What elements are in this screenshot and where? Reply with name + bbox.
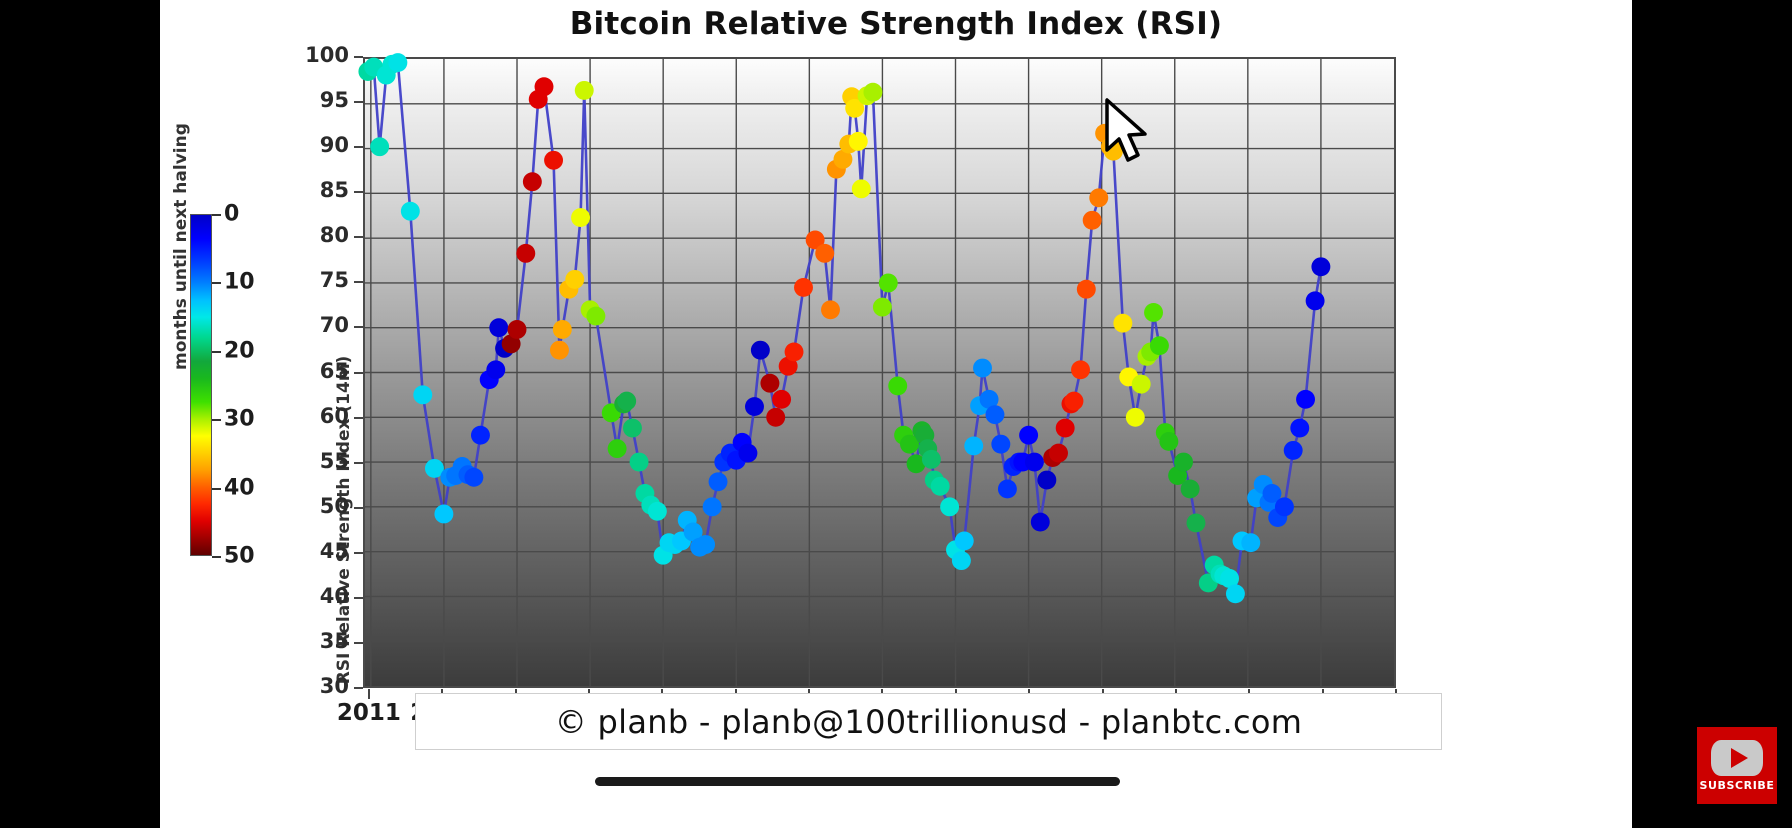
chart-figure: Bitcoin Relative Strength Index (RSI) mo… <box>160 0 1632 828</box>
y-tick-label: 55 <box>289 449 349 473</box>
y-tick-mark <box>354 462 363 464</box>
youtube-subscribe-button[interactable]: SUBSCRIBE <box>1697 727 1777 804</box>
watermark-credit: © planb - planb@100trillionusd - planbtc… <box>415 693 1442 750</box>
plot-area <box>363 57 1396 688</box>
y-tick-mark <box>354 552 363 554</box>
y-tick-label: 70 <box>289 313 349 337</box>
video-player-frame[interactable]: Bitcoin Relative Strength Index (RSI) mo… <box>160 0 1632 828</box>
colorbar-gradient <box>190 214 212 556</box>
y-tick-mark <box>354 281 363 283</box>
y-tick-label: 50 <box>289 494 349 518</box>
y-tick-label: 45 <box>289 539 349 563</box>
y-tick-label: 65 <box>289 359 349 383</box>
y-tick-label: 30 <box>289 674 349 698</box>
y-tick-mark <box>354 372 363 374</box>
y-tick-mark <box>354 597 363 599</box>
y-tick-label: 85 <box>289 178 349 202</box>
colorbar-tick-label: 30 <box>224 407 255 432</box>
colorbar-tick-mark <box>212 351 221 353</box>
screen: Bitcoin Relative Strength Index (RSI) mo… <box>0 0 1792 828</box>
youtube-play-icon <box>1711 740 1763 776</box>
y-tick-mark <box>354 56 363 58</box>
subscribe-label: SUBSCRIBE <box>1699 779 1774 792</box>
y-tick-mark <box>354 642 363 644</box>
y-tick-mark <box>354 236 363 238</box>
y-tick-label: 90 <box>289 133 349 157</box>
y-tick-label: 35 <box>289 629 349 653</box>
video-progress-bar[interactable] <box>595 777 1120 786</box>
chart-title: Bitcoin Relative Strength Index (RSI) <box>160 6 1632 42</box>
y-tick-mark <box>354 191 363 193</box>
colorbar-tick-label: 10 <box>224 270 255 295</box>
colorbar-tick-label: 50 <box>224 544 255 569</box>
colorbar-tick-mark <box>212 488 221 490</box>
colorbar-tick-label: 0 <box>224 202 239 227</box>
y-tick-mark <box>354 687 363 689</box>
y-tick-mark <box>354 101 363 103</box>
y-tick-mark <box>354 507 363 509</box>
colorbar-tick-label: 40 <box>224 475 255 500</box>
colorbar-tick-mark <box>212 419 221 421</box>
mouse-pointer-icon <box>1104 98 1150 168</box>
x-tick-mark <box>368 689 370 699</box>
y-tick-label: 75 <box>289 268 349 292</box>
y-tick-mark <box>354 146 363 148</box>
y-tick-mark <box>354 417 363 419</box>
scatter-series <box>365 59 1394 686</box>
colorbar-tick-mark <box>212 556 221 558</box>
colorbar-label-text: months until next halving <box>171 123 191 370</box>
y-tick-label: 40 <box>289 584 349 608</box>
y-tick-label: 80 <box>289 223 349 247</box>
y-tick-label: 100 <box>289 43 349 67</box>
y-tick-label: 60 <box>289 404 349 428</box>
y-tick-mark <box>354 326 363 328</box>
colorbar-tick-mark <box>212 214 221 216</box>
colorbar-tick-label: 20 <box>224 338 255 363</box>
colorbar-tick-mark <box>212 282 221 284</box>
y-tick-label: 95 <box>289 88 349 112</box>
